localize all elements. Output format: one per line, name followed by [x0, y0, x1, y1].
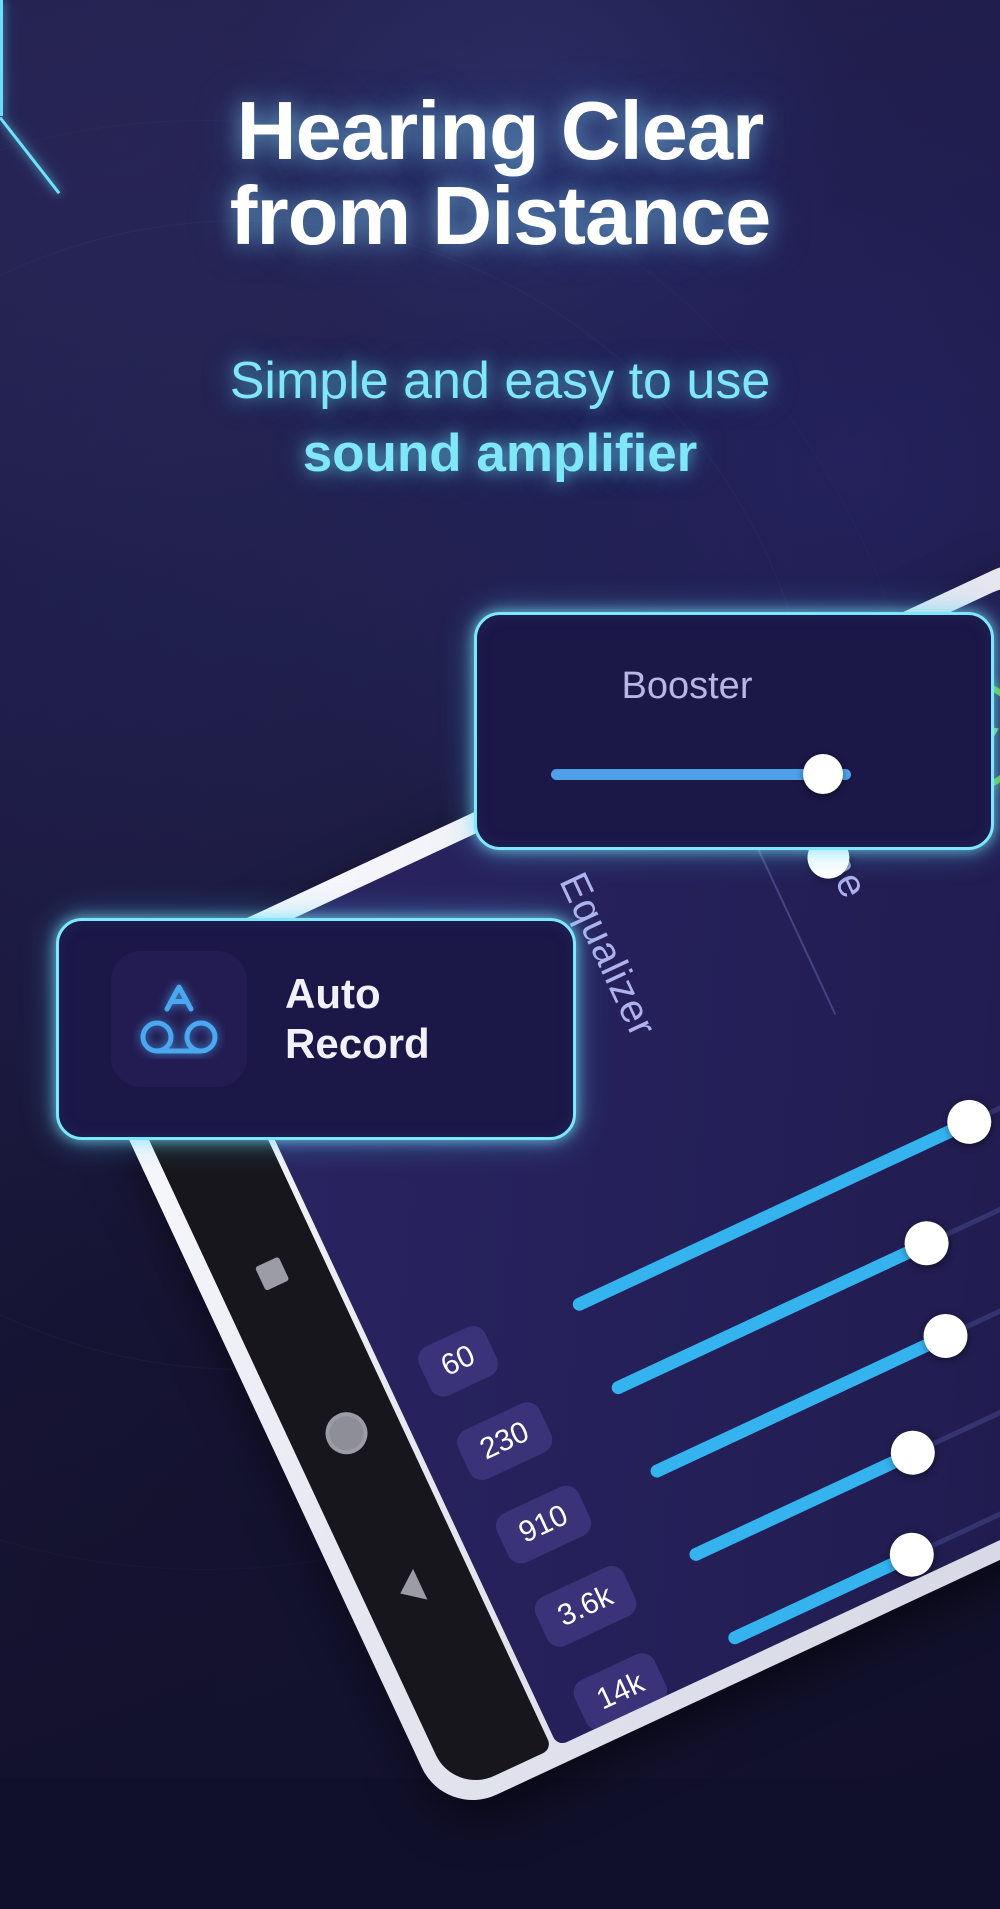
headline-line-2: from Distance: [0, 173, 1000, 258]
frequency-badge: 3.6k: [530, 1562, 640, 1652]
booster-callout-card[interactable]: Booster: [474, 612, 994, 850]
auto-record-icon: [111, 951, 247, 1087]
subtitle-line-1: Simple and easy to use: [230, 352, 771, 410]
booster-slider[interactable]: [551, 755, 851, 795]
hero-headline: Hearing Clear from Distance: [0, 88, 1000, 259]
auto-record-callout-card[interactable]: Auto Record: [56, 918, 576, 1140]
band-slider-thumb[interactable]: [897, 1214, 955, 1272]
band-slider-thumb[interactable]: [884, 1423, 942, 1481]
band-slider-track[interactable]: [571, 1116, 973, 1312]
subtitle-line-2: sound amplifier: [0, 424, 1000, 483]
frequency-badge: 60: [414, 1321, 503, 1401]
booster-slider-thumb[interactable]: [803, 754, 843, 794]
band-slider-thumb[interactable]: [940, 1093, 998, 1151]
auto-record-content: Auto Record: [111, 951, 430, 1087]
headline-line-1: Hearing Clear: [0, 88, 1000, 173]
booster-title: Booster: [477, 665, 897, 708]
band-slider-track[interactable]: [687, 1447, 915, 1563]
band-slider-thumb[interactable]: [883, 1525, 941, 1583]
circle-icon[interactable]: [319, 1405, 375, 1461]
auto-record-label: Auto Record: [285, 969, 430, 1068]
hero-subtitle: Simple and easy to use sound amplifier: [0, 352, 1000, 484]
triangle-icon[interactable]: [393, 1569, 427, 1609]
frequency-badge: 14k: [569, 1648, 672, 1734]
auto-record-glyph: [133, 979, 225, 1059]
band-slider-thumb[interactable]: [916, 1307, 974, 1365]
frequency-badge: 230: [452, 1398, 556, 1485]
band-slider-track[interactable]: [726, 1549, 915, 1646]
square-icon[interactable]: [255, 1256, 290, 1291]
frequency-badge: 910: [491, 1481, 595, 1568]
